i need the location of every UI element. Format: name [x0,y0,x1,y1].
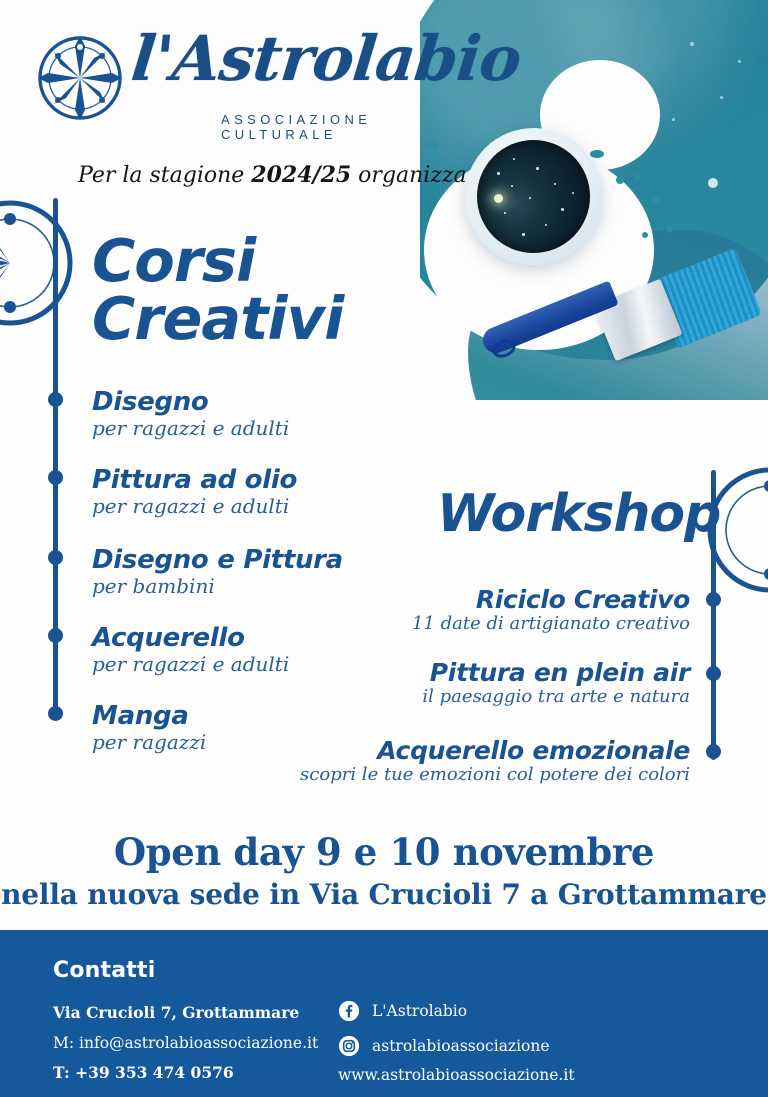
courses-timeline-dot [48,628,63,643]
workshop-item: Acquerello emozionale scopri le tue emoz… [300,737,690,786]
course-subtitle: per bambini [92,575,343,598]
paint-brush [480,228,760,398]
course-subtitle: per ragazzi e adulti [92,417,289,440]
facebook-icon [338,1000,360,1022]
courses-timeline-dot [48,706,63,721]
workshop-subtitle: il paesaggio tra arte e natura [422,687,690,708]
white-cutout [540,60,660,170]
brand-logo: l'Astrolabio ASSOCIAZIONE CULTURALE [36,30,466,140]
brand-name: l'Astrolabio [128,22,524,95]
footer-facebook-link[interactable]: L'Astrolabio [338,996,575,1025]
course-item: Pittura ad olio per ragazzi e adulti [92,466,297,518]
paint-splat [590,150,604,158]
footer-facebook-label: L'Astrolabio [372,1002,467,1020]
brush-ferrule [593,279,682,362]
workshop-title: Acquerello emozionale [300,737,690,764]
season-years: 2024/25 [251,162,351,188]
poster-canvas: l'Astrolabio ASSOCIAZIONE CULTURALE Per … [0,0,768,1097]
course-title: Disegno e Pittura [92,546,343,574]
brand-subtitle: ASSOCIAZIONE CULTURALE [221,112,466,142]
paint-splat [652,196,662,203]
course-subtitle: per ragazzi e adulti [92,495,297,518]
workshop-title: Riciclo Creativo [412,586,690,613]
workshop-timeline-dot [706,744,721,759]
footer-website[interactable]: www.astrolabioassociazione.it [338,1066,575,1084]
workshop-subtitle: scopri le tue emozioni col potere dei co… [300,765,690,786]
courses-headline-line1: Corsi [92,232,343,290]
courses-headline: Corsi Creativi [92,232,343,348]
course-title: Acquerello [92,624,289,652]
brush-hang-hole [490,336,519,361]
teal-paint-wash-lower [468,230,768,400]
course-subtitle: per ragazzi e adulti [92,653,289,676]
instagram-icon [338,1035,360,1057]
paint-sparkle [708,178,718,188]
footer-email[interactable]: M: info@astrolabioassociazione.it [53,1028,318,1058]
compass-rose-left-decoration [0,188,94,338]
course-subtitle: per ragazzi [92,731,206,754]
season-suffix: organizza [351,163,466,188]
paint-splat [634,174,640,180]
open-day-line2: nella nuova sede in Via Crucioli 7 a Gro… [0,878,768,911]
brush-bristles [652,248,762,348]
paint-can [465,128,602,265]
course-item: Manga per ragazzi [92,702,206,754]
compass-rose-icon [36,34,124,127]
paint-splat [426,142,438,149]
workshop-timeline-dot [706,666,721,681]
paint-speck [690,42,694,46]
open-day-line1: Open day 9 e 10 novembre [0,830,768,874]
footer-phone[interactable]: T: +39 353 474 0576 [53,1058,318,1088]
course-item: Acquerello per ragazzi e adulti [92,624,289,676]
season-line: Per la stagione 2024/25 organizza [78,162,467,188]
paint-speck [672,118,675,121]
footer-instagram-link[interactable]: astrolabioassociazione [338,1031,575,1060]
footer-contact-lines: Via Crucioli 7, Grottammare M: info@astr… [53,998,318,1089]
paint-can-interior [477,140,590,253]
courses-timeline-dot [48,392,63,407]
paint-splat [642,232,648,238]
course-item: Disegno e Pittura per bambini [92,546,343,598]
paint-speck [720,96,723,99]
workshop-item: Pittura en plein air il paesaggio tra ar… [422,659,690,708]
workshop-title: Pittura en plein air [422,659,690,686]
footer-social-links: L'Astrolabio astrolabioassociazione www.… [338,996,575,1084]
course-item: Disegno per ragazzi e adulti [92,388,289,440]
paint-speck [738,60,741,63]
paint-splat [616,176,624,184]
paint-splat [666,224,673,233]
courses-timeline-dot [48,470,63,485]
season-prefix: Per la stagione [78,163,251,188]
open-day-block: Open day 9 e 10 novembre nella nuova sed… [0,830,768,911]
workshop-timeline-line [711,470,716,760]
courses-timeline-dot [48,550,63,565]
workshop-subtitle: 11 date di artigianato creativo [412,614,690,635]
workshop-item: Riciclo Creativo 11 date di artigianato … [412,586,690,635]
workshop-headline: Workshop [437,488,720,540]
footer-instagram-label: astrolabioassociazione [372,1037,550,1055]
footer-address: Via Crucioli 7, Grottammare [53,998,318,1028]
course-title: Manga [92,702,206,730]
brush-handle [479,281,619,358]
footer-title: Contatti [53,958,155,983]
courses-headline-line2: Creativi [92,290,343,348]
course-title: Pittura ad olio [92,466,297,494]
course-title: Disegno [92,388,289,416]
workshop-timeline-dot [706,592,721,607]
contact-footer: Contatti Via Crucioli 7, Grottammare M: … [0,930,768,1097]
